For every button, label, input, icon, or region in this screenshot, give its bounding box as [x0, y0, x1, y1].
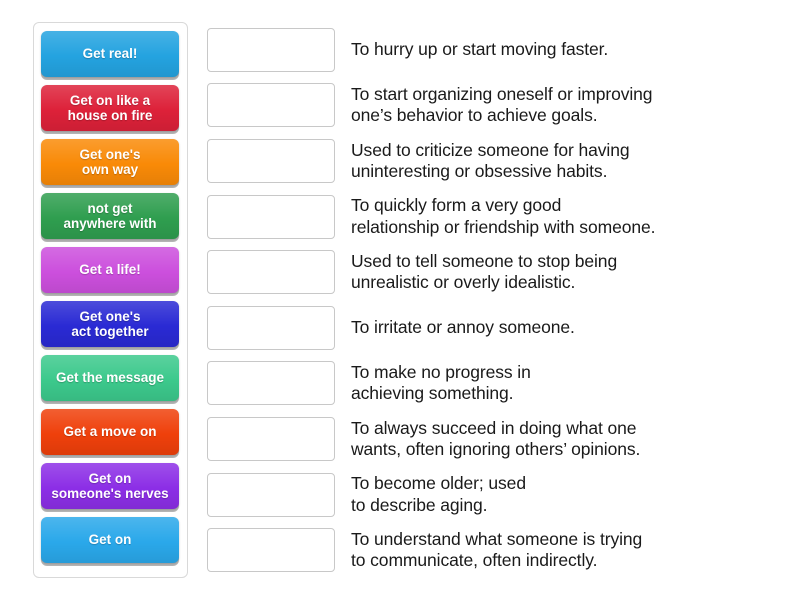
answer-dropzone[interactable] — [207, 28, 335, 72]
match-row: To start organizing oneself or improving… — [207, 78, 782, 134]
draggable-tile[interactable]: Get on like a house on fire — [41, 85, 179, 131]
draggable-tile[interactable]: Get on — [41, 517, 179, 563]
match-row: To become older; used to describe aging. — [207, 467, 782, 523]
tile-label: Get a move on — [63, 424, 156, 439]
definition-text: To make no progress in achieving somethi… — [351, 362, 782, 405]
match-row: To quickly form a very good relationship… — [207, 189, 782, 245]
match-row: Used to tell someone to stop being unrea… — [207, 244, 782, 300]
definition-text: To become older; used to describe aging. — [351, 473, 782, 516]
tile-label: not get anywhere with — [63, 201, 156, 231]
definition-text: To always succeed in doing what one want… — [351, 418, 782, 461]
tile-tray: Get real! Get on like a house on fire Ge… — [33, 22, 188, 578]
answer-dropzone[interactable] — [207, 195, 335, 239]
draggable-tile[interactable]: Get the message — [41, 355, 179, 401]
tile-label: Get real! — [83, 46, 138, 61]
answer-dropzone[interactable] — [207, 473, 335, 517]
draggable-tile[interactable]: Get one's act together — [41, 301, 179, 347]
answer-dropzone[interactable] — [207, 361, 335, 405]
tile-label: Get one's own way — [80, 147, 141, 177]
tile-label: Get a life! — [79, 262, 141, 277]
draggable-tile[interactable]: Get on someone's nerves — [41, 463, 179, 509]
answer-dropzone[interactable] — [207, 139, 335, 183]
definition-text: To irritate or annoy someone. — [351, 317, 782, 338]
draggable-tile[interactable]: not get anywhere with — [41, 193, 179, 239]
tile-label: Get on someone's nerves — [51, 471, 168, 501]
tile-label: Get on like a house on fire — [68, 93, 153, 123]
answer-dropzone[interactable] — [207, 306, 335, 350]
draggable-tile[interactable]: Get one's own way — [41, 139, 179, 185]
answer-dropzone[interactable] — [207, 417, 335, 461]
definition-text: Used to tell someone to stop being unrea… — [351, 251, 782, 294]
draggable-tile[interactable]: Get real! — [41, 31, 179, 77]
match-row: To make no progress in achieving somethi… — [207, 356, 782, 412]
definition-text: To understand what someone is trying to … — [351, 529, 782, 572]
match-row: Used to criticize someone for having uni… — [207, 133, 782, 189]
tile-label: Get the message — [56, 370, 164, 385]
tile-label: Get one's act together — [71, 309, 148, 339]
match-row: To always succeed in doing what one want… — [207, 411, 782, 467]
tile-label: Get on — [89, 532, 132, 547]
match-row: To hurry up or start moving faster. — [207, 22, 782, 78]
answer-dropzone[interactable] — [207, 250, 335, 294]
definition-text: To start organizing oneself or improving… — [351, 84, 782, 127]
definition-text: To hurry up or start moving faster. — [351, 39, 782, 60]
answer-dropzone[interactable] — [207, 83, 335, 127]
definition-text: Used to criticize someone for having uni… — [351, 140, 782, 183]
match-row: To irritate or annoy someone. — [207, 300, 782, 356]
draggable-tile[interactable]: Get a move on — [41, 409, 179, 455]
draggable-tile[interactable]: Get a life! — [41, 247, 179, 293]
answer-rows: To hurry up or start moving faster. To s… — [207, 22, 782, 578]
match-up-activity: Get real! Get on like a house on fire Ge… — [0, 0, 800, 600]
definition-text: To quickly form a very good relationship… — [351, 195, 782, 238]
answer-dropzone[interactable] — [207, 528, 335, 572]
match-row: To understand what someone is trying to … — [207, 522, 782, 578]
